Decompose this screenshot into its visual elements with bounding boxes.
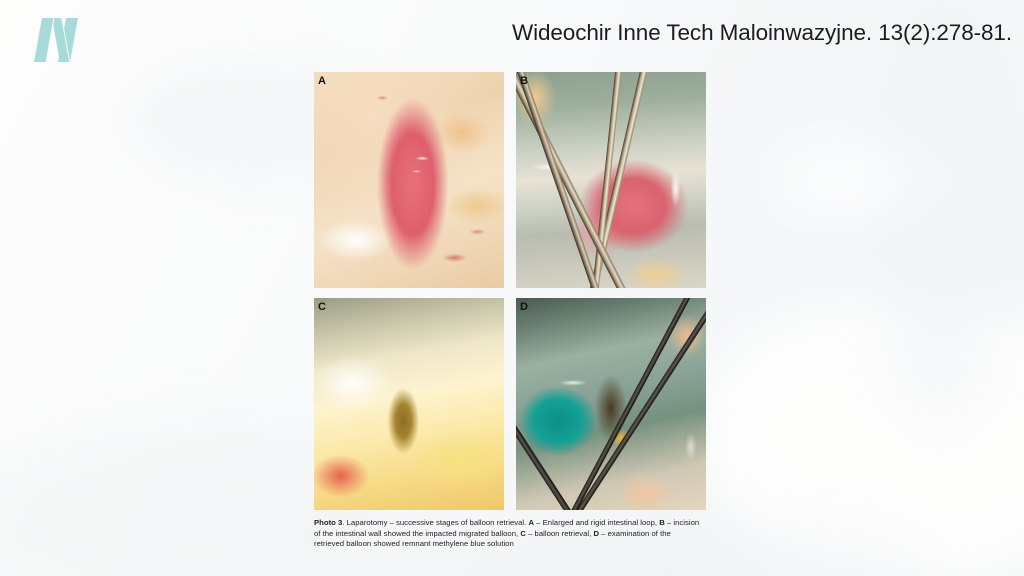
background-blob [780, 150, 960, 210]
background-blob [700, 300, 1024, 576]
photo-panel-d[interactable]: D [516, 298, 706, 510]
figure-block: A B C D Photo 3. Laparotomy – successive… [314, 72, 706, 550]
caption-body-4: – balloon retrieval, [526, 529, 594, 538]
slide-canvas: Wideochir Inne Tech Maloinwazyjne. 13(2)… [0, 0, 1024, 576]
surgical-photo-a [314, 72, 504, 288]
figure-caption: Photo 3. Laparotomy – successive stages … [314, 518, 700, 550]
caption-body-1: . Laparotomy – successive stages of ball… [342, 518, 528, 527]
surgical-photo-c [314, 298, 504, 510]
surgical-photo-d [516, 298, 706, 510]
header-bar: Wideochir Inne Tech Maloinwazyjne. 13(2)… [0, 0, 1024, 72]
journal-n-logo-icon [28, 14, 90, 66]
caption-body-2: – Enlarged and rigid intestinal loop, [534, 518, 659, 527]
photo-panel-a[interactable]: A [314, 72, 504, 288]
surgical-photo-b [516, 72, 706, 288]
panel-label-b: B [520, 75, 528, 87]
panel-label-a: A [318, 75, 326, 87]
panel-label-c: C [318, 301, 326, 313]
photo-panel-c[interactable]: C [314, 298, 504, 510]
photo-panel-b[interactable]: B [516, 72, 706, 288]
panel-label-d: D [520, 301, 528, 313]
journal-citation: Wideochir Inne Tech Maloinwazyjne. 13(2)… [512, 18, 1012, 48]
caption-photo-label: Photo 3 [314, 518, 342, 527]
photo-grid: A B C D [314, 72, 706, 510]
